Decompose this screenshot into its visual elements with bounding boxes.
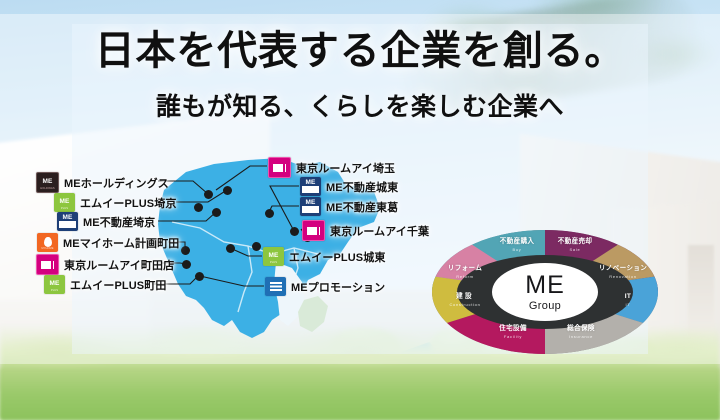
label-me-fudosan-tokatsu[interactable]: ME ME不動産東葛 bbox=[300, 197, 398, 216]
label-text: MEホールディングス bbox=[64, 175, 169, 191]
headline-block: 日本を代表する企業を創る。 誰もが知る、くらしを楽しむ企業へ bbox=[0, 30, 720, 123]
icon-stack-shape bbox=[270, 282, 282, 291]
wheel-center-logo: ME Group bbox=[492, 263, 598, 321]
label-text: MEプロモーション bbox=[291, 279, 385, 295]
map-dot[interactable] bbox=[223, 186, 232, 195]
hero-banner: 日本を代表する企業を創る。 誰もが知る、くらしを楽しむ企業へ bbox=[0, 0, 720, 420]
label-text: 東京ルームアイ埼玉 bbox=[296, 160, 395, 176]
label-me-plus-machida[interactable]: ME PLUS エムイーPLUS町田 bbox=[44, 275, 166, 294]
me-plus-machida-icon: ME PLUS bbox=[44, 275, 65, 294]
icon-band bbox=[302, 206, 319, 213]
label-text: 東京ルームアイ千葉 bbox=[330, 223, 429, 239]
label-text: エムイーPLUS城東 bbox=[289, 249, 385, 265]
map-dot[interactable] bbox=[290, 227, 299, 236]
headline-sub: 誰もが知る、くらしを楽しむ企業へ bbox=[0, 87, 720, 123]
label-text: ME不動産埼京 bbox=[83, 214, 155, 230]
label-me-fudosan-saikyo[interactable]: ME ME不動産埼京 bbox=[57, 212, 155, 231]
me-plus-joto-icon: ME PLUS bbox=[263, 247, 284, 266]
label-text: ME不動産城東 bbox=[326, 179, 398, 195]
label-text: ME不動産東葛 bbox=[326, 199, 398, 215]
label-me-myhome-machida[interactable]: MYHOME MEマイホーム計画町田 bbox=[37, 233, 179, 252]
me-fudosan-tokatsu-icon: ME bbox=[300, 197, 321, 216]
label-tokyo-roomeye-saitama[interactable]: 東京ルームアイ埼玉 bbox=[268, 157, 395, 178]
me-fudosan-saikyo-icon: ME bbox=[57, 212, 78, 231]
headline-main: 日本を代表する企業を創る。 bbox=[0, 30, 720, 73]
label-text: エムイーPLUS埼京 bbox=[80, 195, 176, 211]
me-logo-text: ME bbox=[525, 273, 565, 298]
map-dot[interactable] bbox=[182, 260, 191, 269]
label-text: エムイーPLUS町田 bbox=[70, 277, 166, 293]
label-tokyo-roomeye-chiba[interactable]: 東京ルームアイ千葉 bbox=[302, 220, 429, 241]
group-logo-text: Group bbox=[529, 301, 561, 312]
map-dot[interactable] bbox=[212, 208, 221, 217]
icon-inner-shape bbox=[273, 164, 286, 172]
tokyo-roomeye-chiba-icon bbox=[302, 220, 325, 241]
me-holdings-icon: ME HOLDINGS bbox=[36, 172, 59, 193]
droplet-shape bbox=[44, 237, 52, 247]
tokyo-roomeye-saitama-icon bbox=[268, 157, 291, 178]
map-dot[interactable] bbox=[252, 242, 261, 251]
label-me-plus-joto[interactable]: ME PLUS エムイーPLUS城東 bbox=[263, 247, 385, 266]
icon-inner-shape bbox=[41, 261, 54, 269]
map-dot[interactable] bbox=[195, 272, 204, 281]
label-text: MEマイホーム計画町田 bbox=[63, 235, 179, 251]
map-dot[interactable] bbox=[265, 209, 274, 218]
label-me-fudosan-joto[interactable]: ME ME不動産城東 bbox=[300, 177, 398, 196]
me-plus-saikyo-icon: ME PLUS bbox=[54, 193, 75, 212]
label-me-plus-saikyo[interactable]: ME PLUS エムイーPLUS埼京 bbox=[54, 193, 176, 212]
me-fudosan-joto-icon: ME bbox=[300, 177, 321, 196]
map-dot[interactable] bbox=[204, 190, 213, 199]
map-dot[interactable] bbox=[194, 203, 203, 212]
me-promotion-icon bbox=[265, 277, 286, 296]
label-tokyo-roomeye-machida[interactable]: 東京ルームアイ町田店 bbox=[36, 254, 174, 275]
icon-band bbox=[59, 221, 76, 228]
map-dot[interactable] bbox=[226, 244, 235, 253]
tokyo-roomeye-machida-icon bbox=[36, 254, 59, 275]
label-text: 東京ルームアイ町田店 bbox=[64, 257, 174, 273]
hedge-front bbox=[0, 368, 720, 420]
label-me-holdings[interactable]: ME HOLDINGS MEホールディングス bbox=[36, 172, 169, 193]
map-dot[interactable] bbox=[181, 246, 190, 255]
me-myhome-machida-icon: MYHOME bbox=[37, 233, 58, 252]
label-me-promotion[interactable]: MEプロモーション bbox=[265, 277, 385, 296]
icon-inner-shape bbox=[307, 227, 320, 235]
icon-band bbox=[302, 186, 319, 193]
business-wheel: 不動産購入 Buy 不動産売却 Sale リノベーション Renovation … bbox=[430, 228, 660, 356]
